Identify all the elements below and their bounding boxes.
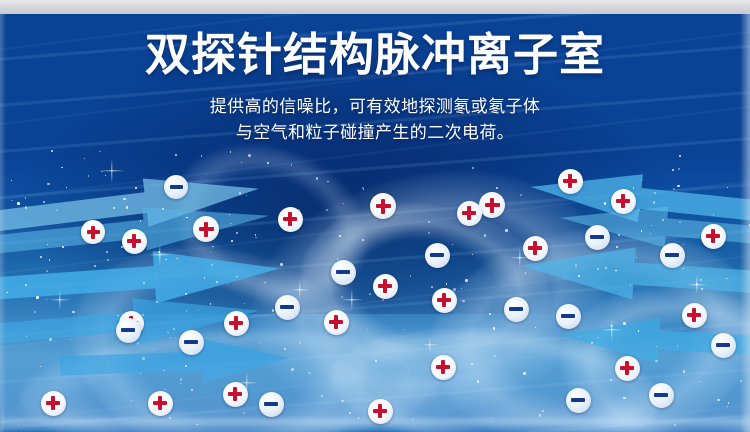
minus-glyph-icon (561, 314, 575, 318)
negative-ion-icon (711, 333, 736, 358)
positive-ion-icon (224, 311, 249, 336)
subtitle: 提供高的信噪比，可有效地探测氡或氡子体 与空气和粒子碰撞产生的二次电荷。 (0, 77, 750, 146)
plus-glyph-icon (706, 229, 720, 243)
positive-ion-icon (523, 236, 548, 261)
negative-ion-icon (425, 243, 450, 268)
product-feature-banner: 双探针结构脉冲离子室 提供高的信噪比，可有效地探测氡或氡子体 与空气和粒子碰撞产… (0, 0, 750, 432)
negative-ion-icon (649, 383, 674, 408)
plus-glyph-icon (153, 396, 167, 410)
plus-glyph-icon (616, 194, 630, 208)
negative-ion-icon (331, 260, 356, 285)
positive-ion-icon (615, 356, 640, 381)
positive-ion-icon (324, 310, 349, 335)
negative-ion-icon (116, 318, 141, 343)
positive-ion-icon (373, 274, 398, 299)
negative-ion-icon (585, 225, 610, 250)
minus-glyph-icon (509, 307, 523, 311)
plus-glyph-icon (329, 315, 343, 329)
positive-ion-icon (611, 189, 636, 214)
plus-glyph-icon (378, 279, 392, 293)
positive-ion-icon (193, 216, 219, 242)
positive-ion-icon (457, 201, 482, 226)
minus-glyph-icon (336, 270, 350, 274)
minus-glyph-icon (430, 253, 444, 257)
plus-glyph-icon (228, 387, 242, 401)
positive-ion-icon (370, 193, 396, 219)
minus-glyph-icon (590, 235, 604, 239)
minus-glyph-icon (170, 185, 183, 189)
positive-ion-icon (368, 399, 393, 424)
minus-glyph-icon (716, 343, 730, 347)
positive-ion-icon (122, 229, 147, 254)
plus-glyph-icon (127, 234, 141, 248)
minus-glyph-icon (121, 328, 135, 332)
negative-ion-icon (164, 175, 188, 199)
plus-glyph-icon (485, 198, 500, 213)
positive-ion-icon (701, 224, 726, 249)
negative-ion-icon (259, 392, 284, 417)
plus-glyph-icon (687, 308, 701, 322)
plus-glyph-icon (373, 404, 387, 418)
minus-glyph-icon (571, 398, 585, 402)
positive-ion-icon (431, 355, 456, 380)
top-gray-strip (0, 0, 750, 14)
positive-ion-icon (682, 303, 707, 328)
subtitle-line-2: 与空气和粒子碰撞产生的二次电荷。 (0, 121, 750, 147)
headline-block: 双探针结构脉冲离子室 提供高的信噪比，可有效地探测氡或氡子体 与空气和粒子碰撞产… (0, 0, 750, 146)
plus-glyph-icon (437, 293, 451, 307)
minus-glyph-icon (665, 253, 679, 257)
negative-ion-icon (179, 330, 204, 355)
positive-ion-icon (432, 288, 457, 313)
positive-ion-icon (81, 220, 105, 244)
plus-glyph-icon (229, 316, 243, 330)
plus-glyph-icon (528, 241, 542, 255)
plus-glyph-icon (199, 222, 214, 237)
positive-ion-icon (479, 192, 505, 218)
minus-glyph-icon (184, 340, 198, 344)
plus-glyph-icon (376, 199, 391, 214)
plus-glyph-icon (563, 174, 577, 188)
minus-glyph-icon (264, 402, 278, 406)
minus-glyph-icon (654, 393, 668, 397)
positive-ion-icon (223, 382, 248, 407)
plus-glyph-icon (436, 360, 450, 374)
negative-ion-icon (556, 304, 581, 329)
positive-ion-icon (558, 169, 583, 194)
plus-glyph-icon (283, 212, 297, 226)
minus-glyph-icon (280, 305, 294, 309)
plus-glyph-icon (46, 396, 60, 410)
plus-glyph-icon (462, 206, 476, 220)
positive-ion-icon (41, 391, 66, 416)
positive-ion-icon (278, 207, 303, 232)
plus-glyph-icon (87, 226, 100, 239)
negative-ion-icon (566, 388, 591, 413)
subtitle-line-1: 提供高的信噪比，可有效地探测氡或氡子体 (0, 95, 750, 121)
positive-ion-icon (148, 391, 173, 416)
negative-ion-icon (660, 243, 685, 268)
negative-ion-icon (504, 297, 529, 322)
plus-glyph-icon (620, 361, 634, 375)
negative-ion-icon (275, 295, 300, 320)
